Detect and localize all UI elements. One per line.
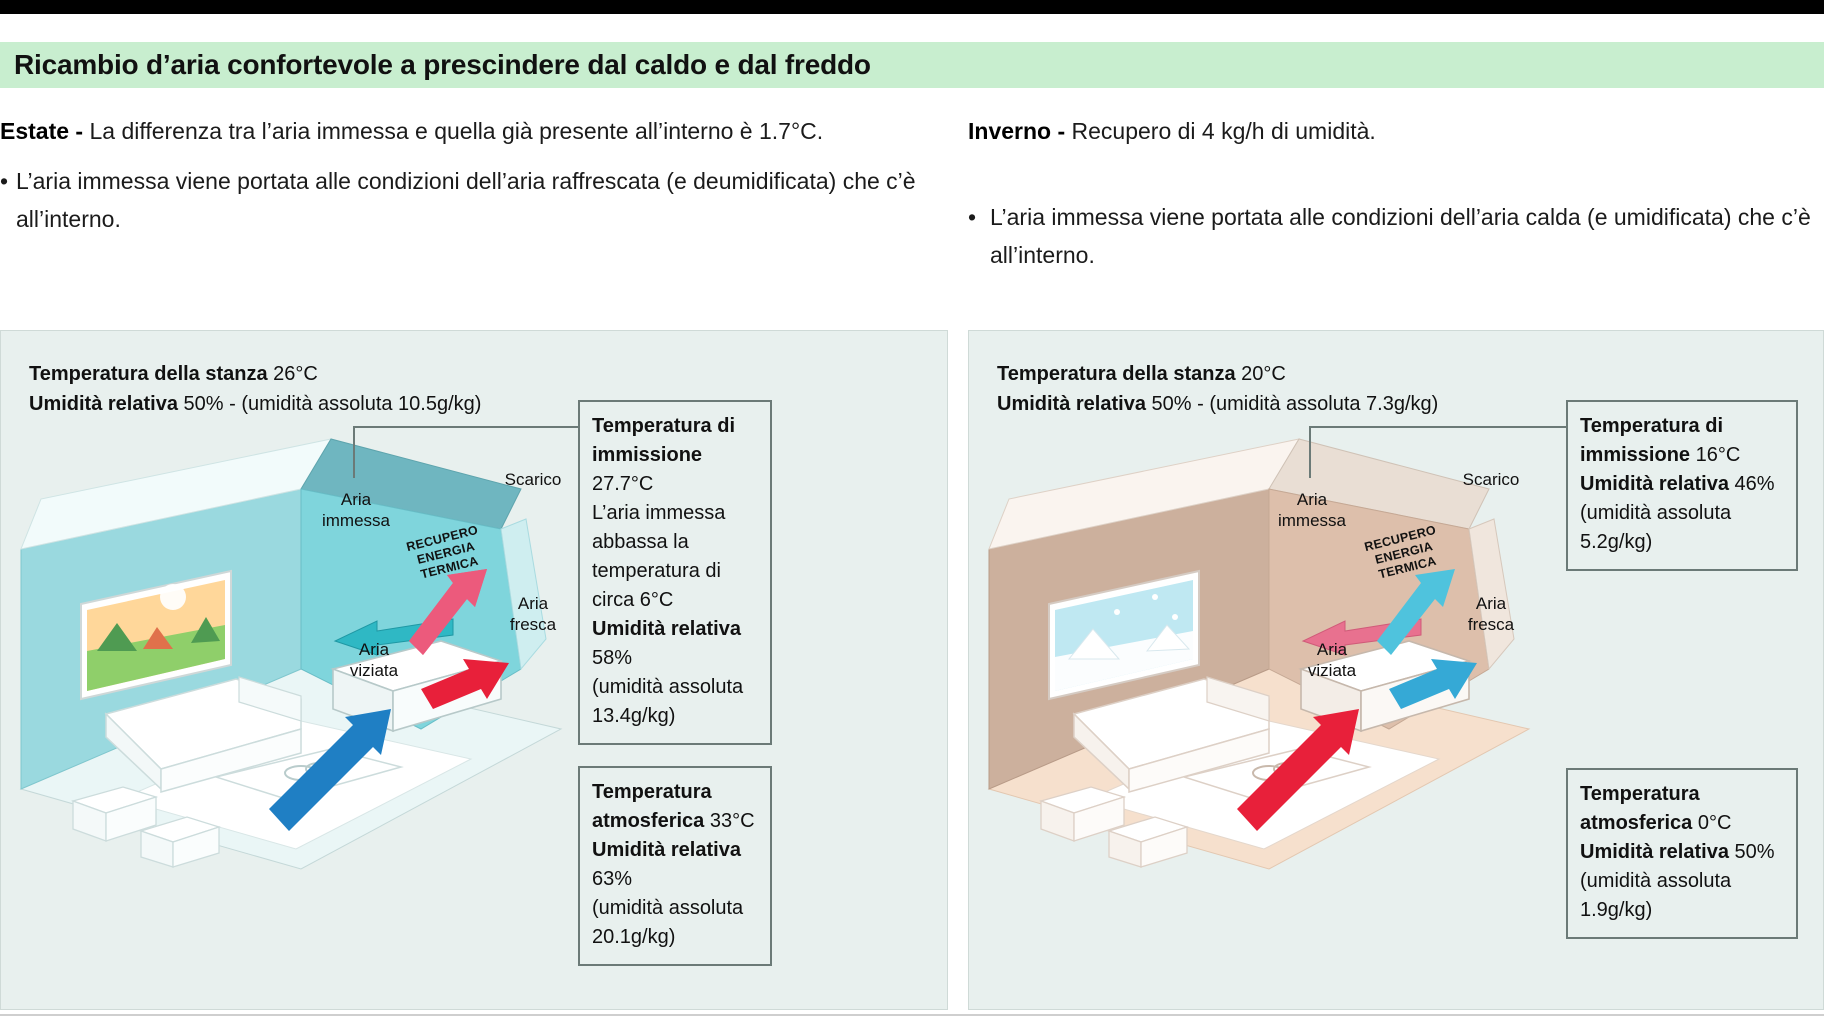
winter-supply-rh-line: Umidità relativa 46% xyxy=(1580,470,1784,499)
summer-outdoor-rh-line: Umidità relativa 63% xyxy=(592,836,758,894)
intro-winter-bullet-text: L’aria immessa viene portata alle condiz… xyxy=(990,198,1824,274)
winter-outdoor-rh-value: 50% xyxy=(1735,841,1775,863)
summer-supply-note: L’aria immessa abbassa la temperatura di… xyxy=(592,499,758,615)
summer-supply-abs: (umidità assoluta 13.4g/kg) xyxy=(592,673,758,731)
intro-winter-text: Recupero di 4 kg/h di umidità. xyxy=(1072,118,1376,144)
headline-text: Ricambio d’aria confortevole a prescinde… xyxy=(14,46,1714,84)
intro-summer: Estate - La differenza tra l’aria immess… xyxy=(0,112,930,238)
winter-outdoor-temp-label: Temperatura atmosferica xyxy=(1580,783,1700,834)
leader-line-supply-drop xyxy=(1309,426,1311,478)
intro-summer-bullet: • L’aria immessa viene portata alle cond… xyxy=(0,162,930,238)
bullet-marker-icon: • xyxy=(968,198,990,274)
label-aria-fresca: Aria fresca xyxy=(1455,593,1527,635)
winter-outdoor-rh-line: Umidità relativa 50% xyxy=(1580,838,1784,867)
intro-winter-bullet: • L’aria immessa viene portata alle cond… xyxy=(968,198,1824,274)
label-aria-fresca: Aria fresca xyxy=(497,593,569,635)
summer-outdoor-temp-value: 33°C xyxy=(710,810,755,832)
intro-summer-text: La differenza tra l’aria immessa e quell… xyxy=(89,118,823,144)
summer-outdoor-temp-label: Temperatura atmosferica xyxy=(592,781,712,832)
panel-summer: Temperatura della stanza 26°C Umidità re… xyxy=(0,330,948,1010)
winter-supply-temp-value: 16°C xyxy=(1696,444,1741,466)
winter-supply-rh-label: Umidità relativa xyxy=(1580,473,1735,495)
summer-supply-rh-label: Umidità relativa xyxy=(592,618,741,640)
summer-outdoor-info-box: Temperatura atmosferica 33°C Umidità rel… xyxy=(578,766,772,966)
label-aria-viziata: Aria viziata xyxy=(1297,639,1367,681)
winter-outdoor-temp-value: 0°C xyxy=(1698,812,1732,834)
label-scarico: Scarico xyxy=(1451,469,1531,490)
summer-supply-temp-label: Temperatura di immissione xyxy=(592,415,735,466)
label-aria-immessa: Aria immessa xyxy=(313,489,399,531)
summer-outdoor-rh-label: Umidità relativa xyxy=(592,839,741,861)
summer-outdoor-abs: (umidità assoluta 20.1g/kg) xyxy=(592,894,758,952)
winter-supply-abs: (umidità assoluta 5.2g/kg) xyxy=(1580,499,1784,557)
winter-supply-rh-value: 46% xyxy=(1735,473,1775,495)
leader-line-supply-drop xyxy=(353,426,355,478)
page-root: Ricambio d’aria confortevole a prescinde… xyxy=(0,0,1824,1024)
label-aria-viziata: Aria viziata xyxy=(339,639,409,681)
winter-outdoor-info-box: Temperatura atmosferica 0°C Umidità rela… xyxy=(1566,768,1798,939)
intro-summer-bullet-text: L’aria immessa viene portata alle condiz… xyxy=(16,162,930,238)
winter-room-illustration xyxy=(959,369,1579,929)
intro-winter-lead: Inverno - Recupero di 4 kg/h di umidità. xyxy=(968,112,1824,150)
summer-supply-temp-value: 27.7°C xyxy=(592,473,653,495)
winter-outdoor-abs: (umidità assoluta 1.9g/kg) xyxy=(1580,867,1784,925)
leader-line-supply xyxy=(1309,426,1567,428)
label-scarico: Scarico xyxy=(493,469,573,490)
summer-supply-info-box: Temperatura di immissione 27.7°C L’aria … xyxy=(578,400,772,745)
intro-winter: Inverno - Recupero di 4 kg/h di umidità.… xyxy=(968,112,1824,274)
winter-supply-info-box: Temperatura di immissione 16°C Umidità r… xyxy=(1566,400,1798,571)
leader-line-supply xyxy=(353,426,579,428)
bottom-divider xyxy=(0,1014,1824,1016)
summer-supply-rh-value: 58% xyxy=(592,647,632,669)
winter-outdoor-rh-label: Umidità relativa xyxy=(1580,841,1735,863)
intro-summer-label: Estate - xyxy=(0,118,89,144)
summer-room-illustration xyxy=(1,369,601,929)
intro-winter-label: Inverno - xyxy=(968,118,1072,144)
top-black-bar xyxy=(0,0,1824,14)
intro-summer-lead: Estate - La differenza tra l’aria immess… xyxy=(0,112,930,150)
summer-outdoor-rh-value: 63% xyxy=(592,868,632,890)
bullet-marker-icon: • xyxy=(0,162,16,238)
label-aria-immessa: Aria immessa xyxy=(1269,489,1355,531)
